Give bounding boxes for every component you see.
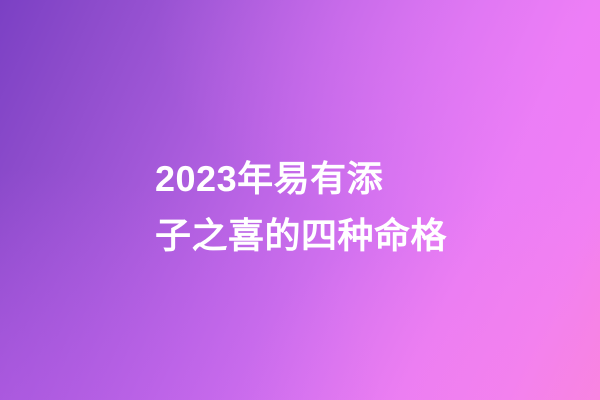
title-card: 2023年易有添 子之喜的四种命格 — [0, 0, 600, 400]
page-title: 2023年易有添 子之喜的四种命格 — [155, 150, 465, 264]
title-line-2: 子之喜的四种命格 — [155, 207, 465, 264]
title-line-1: 2023年易有添 — [155, 150, 465, 207]
